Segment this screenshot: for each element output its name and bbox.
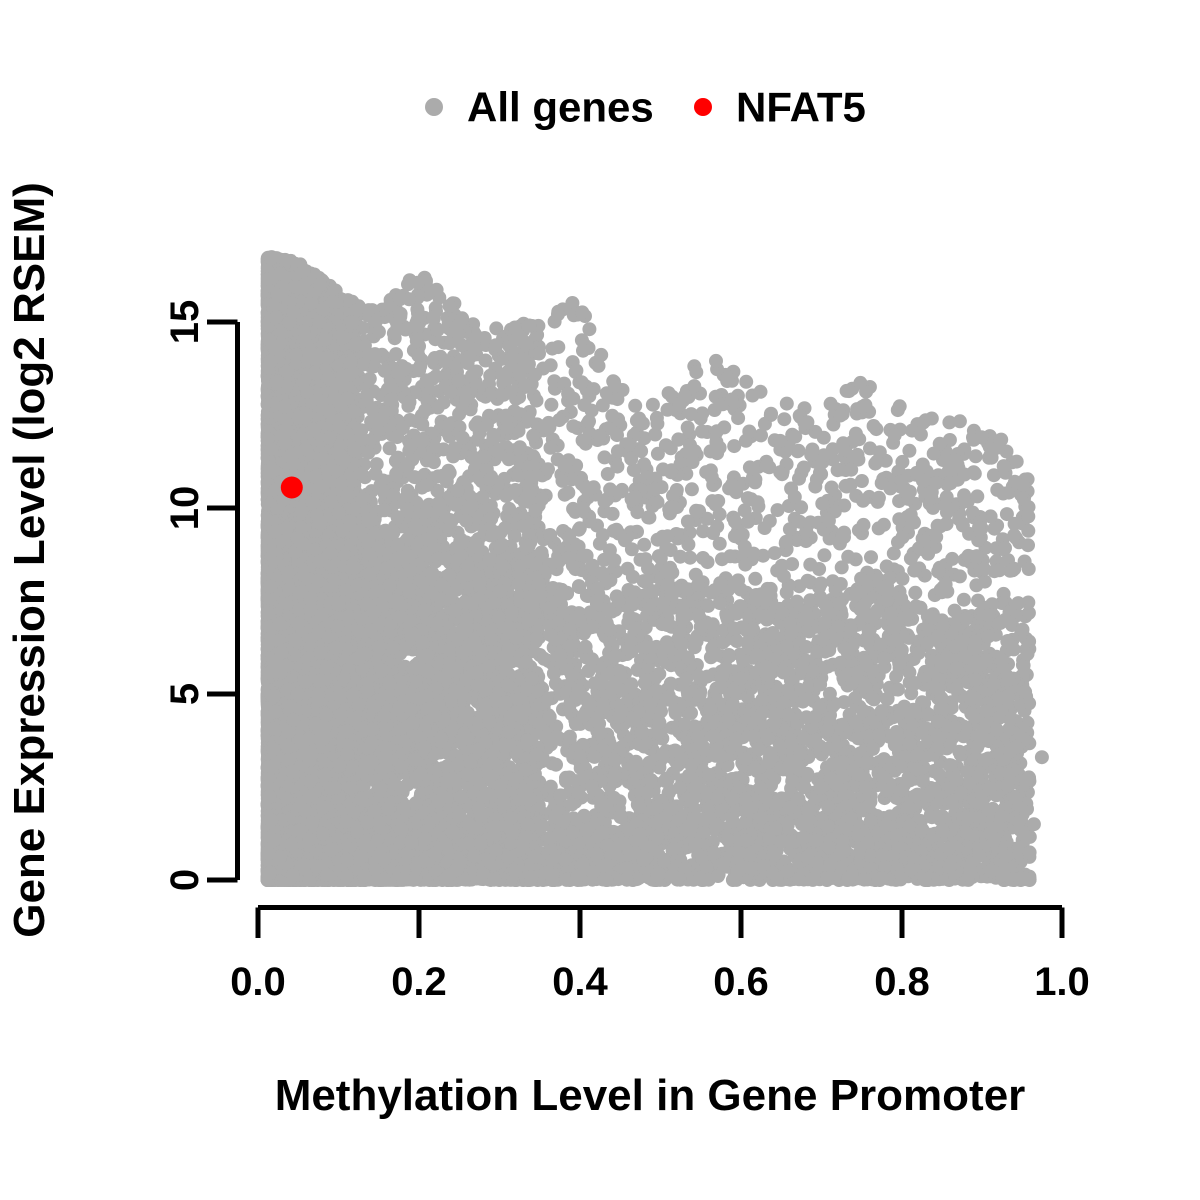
x-tick-label-0.6: 0.6 [713,960,769,1004]
x-tick-label-0.4: 0.4 [552,960,608,1004]
x-axis-title: Methylation Level in Gene Promoter [275,1071,1026,1120]
legend-marker-nfat5 [694,98,712,116]
legend-label-all-genes: All genes [467,84,654,131]
y-axis-title: Gene Expression Level (log2 RSEM) [5,182,54,938]
x-tick-label-1.0: 1.0 [1034,960,1090,1004]
legend-label-nfat5: NFAT5 [736,84,866,131]
legend-marker-all-genes [425,98,443,116]
y-tick-label-0: 0 [163,869,207,891]
legend: All genes NFAT5 [425,84,866,131]
y-tick-label-15: 15 [163,300,207,345]
data-point-nfat5 [281,477,303,499]
nfat5-point [281,477,303,499]
x-tick-label-0.2: 0.2 [391,960,447,1004]
scatter-plot-figure: 15 10 5 0 0.0 0.2 0.4 0.6 0.8 1.0 Methyl… [0,0,1200,1200]
y-tick-label-10: 10 [163,486,207,531]
x-tick-label-0.8: 0.8 [874,960,930,1004]
x-tick-label-0.0: 0.0 [230,960,286,1004]
chart-canvas: 15 10 5 0 0.0 0.2 0.4 0.6 0.8 1.0 Methyl… [0,0,1200,1200]
y-tick-label-5: 5 [163,683,207,705]
